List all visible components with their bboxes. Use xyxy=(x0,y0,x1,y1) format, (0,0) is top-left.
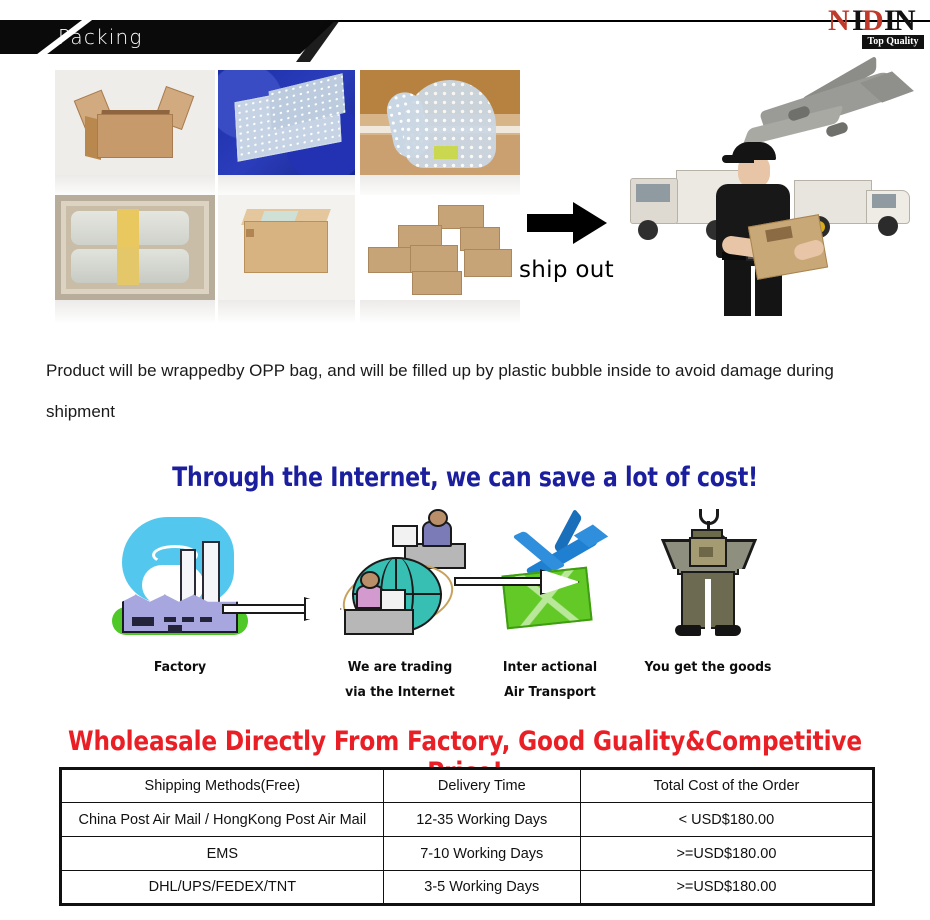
table-column-header: Total Cost of the Order xyxy=(580,769,873,803)
courier-delivery-scene xyxy=(630,72,920,317)
table-row: China Post Air Mail / HongKong Post Air … xyxy=(61,803,874,837)
van-window xyxy=(872,194,896,208)
flow-label-trading: We are trading via the Internet xyxy=(317,655,483,705)
packing-description: Product will be wrappedby OPP bag, and w… xyxy=(46,350,896,432)
factory-window xyxy=(164,617,176,622)
truck-wheel-front xyxy=(638,220,658,240)
table-row: DHL/UPS/FEDEX/TNT3-5 Working Days>=USD$1… xyxy=(61,871,874,905)
yellow-tape-bottom xyxy=(117,247,139,285)
logo-letter-n2: N xyxy=(894,6,915,36)
stacked-carton xyxy=(464,249,512,277)
yellow-tape-top xyxy=(117,209,139,247)
person-receiving-goods-icon xyxy=(655,509,765,641)
photo-sealed-carton xyxy=(218,195,355,300)
photo-open-carton xyxy=(55,70,215,175)
parcel-marking xyxy=(699,547,713,557)
stacked-carton xyxy=(460,227,500,251)
logo-tagline: Top Quality xyxy=(862,35,924,49)
trader-head-lower xyxy=(360,571,380,589)
carton-front-face xyxy=(244,221,328,273)
arrow-head xyxy=(573,202,607,244)
table-cell: 12-35 Working Days xyxy=(383,803,580,837)
arrow-shaft xyxy=(527,214,577,232)
factory-window xyxy=(182,617,194,622)
ship-out-label: ship out xyxy=(519,257,614,283)
photo-reflection xyxy=(360,300,520,324)
photo-bagged-goods xyxy=(55,195,215,300)
flow-label-line1: Factory xyxy=(106,655,253,680)
brand-logo: N I D I N Top Quality xyxy=(828,4,924,52)
computer-upper xyxy=(392,525,418,547)
shipping-methods-table: Shipping Methods(Free)Delivery TimeTotal… xyxy=(59,767,875,906)
courier-person-icon xyxy=(698,142,818,317)
flow-label-line2: via the Internet xyxy=(317,680,483,705)
table-cell: >=USD$180.00 xyxy=(580,837,873,871)
photo-reflection xyxy=(218,300,355,324)
flow-label-air-transport: Inter actional Air Transport xyxy=(476,655,623,705)
logo-letter-d: D xyxy=(862,6,883,36)
flow-label-factory: Factory xyxy=(106,655,253,680)
brand-logo-wordmark: N I D I N xyxy=(828,6,924,36)
photo-reflection xyxy=(55,300,215,324)
courier-leg-gap xyxy=(751,266,755,316)
airplane-envelope-icon xyxy=(490,519,620,639)
stacked-carton xyxy=(410,245,458,273)
photo-bubble-roll-in-box xyxy=(360,70,520,175)
trade-flow-diagram: Factory We are trading via the Internet xyxy=(0,505,930,705)
table-row: EMS7-10 Working Days>=USD$180.00 xyxy=(61,837,874,871)
table-cell: >=USD$180.00 xyxy=(580,871,873,905)
table-cell: 7-10 Working Days xyxy=(383,837,580,871)
truck-windshield xyxy=(636,184,670,202)
table-cell: China Post Air Mail / HongKong Post Air … xyxy=(61,803,384,837)
globe-trading-icon xyxy=(330,513,470,643)
table-header-row: Shipping Methods(Free)Delivery TimeTotal… xyxy=(61,769,874,803)
arrow-head xyxy=(540,569,580,595)
trader-head-upper xyxy=(428,509,448,527)
table-column-header: Shipping Methods(Free) xyxy=(61,769,384,803)
carton-body xyxy=(97,114,173,158)
carton-tape-mark xyxy=(246,229,254,237)
computer-lower xyxy=(380,589,406,611)
table-cell: EMS xyxy=(61,837,384,871)
internet-savings-heading: Through the Internet, we can save a lot … xyxy=(84,462,847,493)
logo-letter-n1: N xyxy=(828,6,849,36)
table-cell: DHL/UPS/FEDEX/TNT xyxy=(61,871,384,905)
receiver-shoe-left xyxy=(675,625,701,636)
flow-label-you-get-goods: You get the goods xyxy=(616,655,800,680)
table-cell: < USD$180.00 xyxy=(580,803,873,837)
packing-photo-grid: ship out xyxy=(0,62,930,312)
ship-out-arrow-icon xyxy=(527,202,607,244)
factory-window xyxy=(132,617,154,626)
box-green-label xyxy=(434,146,458,159)
van-wheel-rear xyxy=(878,216,898,236)
receiver-shoe-right xyxy=(715,625,741,636)
desk-lower xyxy=(344,609,414,635)
photo-bubble-sheet xyxy=(218,70,355,175)
receiver-leg-gap xyxy=(705,579,711,629)
flow-arrow-2-icon xyxy=(454,569,580,595)
flow-label-line1: You get the goods xyxy=(616,655,800,680)
stacked-carton xyxy=(438,205,484,229)
flow-label-line2: Air Transport xyxy=(476,680,623,705)
arrow-shaft xyxy=(222,604,314,614)
stacked-carton xyxy=(412,271,462,295)
arrow-shaft xyxy=(454,577,550,586)
factory-icon xyxy=(112,511,248,641)
page-title: Packing xyxy=(58,21,143,53)
flow-label-line1: We are trading xyxy=(317,655,483,680)
stacked-carton xyxy=(368,247,412,273)
flow-arrow-1-icon xyxy=(222,597,340,621)
factory-window xyxy=(200,617,212,622)
table-cell: 3-5 Working Days xyxy=(383,871,580,905)
flow-label-line1: Inter actional xyxy=(476,655,623,680)
photo-carton-stack xyxy=(360,195,520,300)
page-header: Packing xyxy=(0,0,930,62)
table-column-header: Delivery Time xyxy=(383,769,580,803)
courier-cap-brim xyxy=(722,155,754,163)
